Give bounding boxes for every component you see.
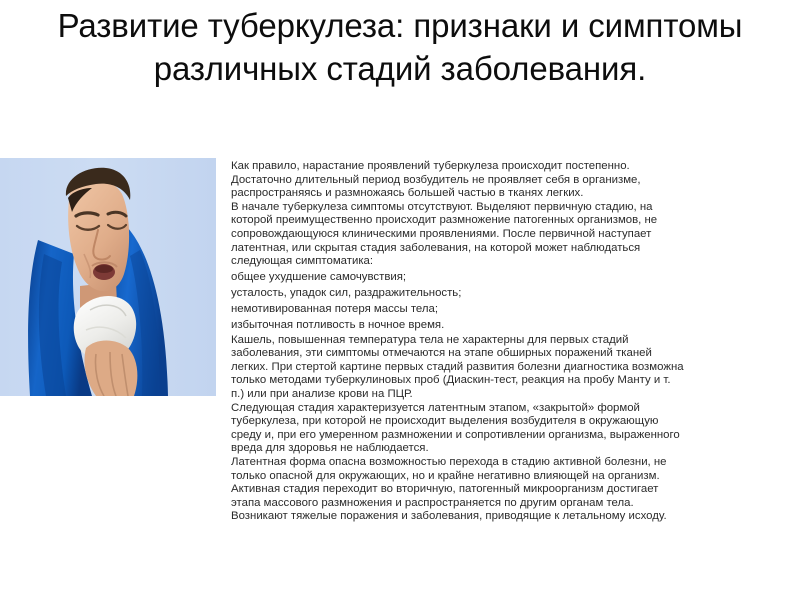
latent-stage-line: среду и, при его умеренном размножении и… <box>231 429 783 443</box>
active-stage-line: только опасной для окружающих, но и край… <box>231 470 783 484</box>
diagnostics-line: легких. При стертой картине первых стади… <box>231 361 783 375</box>
symptom-item: усталость, упадок сил, раздражительность… <box>231 285 783 301</box>
coughing-man-illustration <box>0 158 216 396</box>
latent-stage-line: туберкулеза, при которой не происходит в… <box>231 415 783 429</box>
intro-line: Как правило, нарастание проявлений тубер… <box>231 160 783 174</box>
illustration-photo <box>0 158 216 396</box>
diagnostics-line: п.) или при анализе крови на ПЦР. <box>231 388 783 402</box>
intro-line: распространяясь и размножаясь большей ча… <box>231 187 783 201</box>
diagnostics-line: Кашель, повышенная температура тела не х… <box>231 334 783 348</box>
primary-stage-line: которой преимущественно происходит размн… <box>231 214 783 228</box>
diagnostics-line: заболевания, эти симптомы отмечаются на … <box>231 347 783 361</box>
symptom-item: немотивированная потеря массы тела; <box>231 301 783 317</box>
primary-stage-line: следующая симптоматика: <box>231 255 783 269</box>
primary-stage-line: латентная, или скрытая стадия заболевани… <box>231 242 783 256</box>
latent-stage-line: вреда для здоровья не наблюдается. <box>231 442 783 456</box>
page-title: Развитие туберкулеза: признаки и симптом… <box>34 4 766 90</box>
symptom-item: избыточная потливость в ночное время. <box>231 317 783 333</box>
primary-stage-line: В начале туберкулеза симптомы отсутствую… <box>231 201 783 215</box>
active-stage-line: Активная стадия переходит во вторичную, … <box>231 483 783 497</box>
latent-stage-line: Следующая стадия характеризуется латентн… <box>231 402 783 416</box>
active-stage-line: Латентная форма опасна возможностью пере… <box>231 456 783 470</box>
slide-body-text: Как правило, нарастание проявлений тубер… <box>231 160 783 524</box>
diagnostics-line: только методами туберкулиновых проб (Диа… <box>231 374 783 388</box>
intro-line: Достаточно длительный период возбудитель… <box>231 174 783 188</box>
symptom-item: общее ухудшение самочувствия; <box>231 269 783 285</box>
primary-stage-line: сопровождающуюся клиническими проявления… <box>231 228 783 242</box>
active-stage-line: этапа массового размножения и распростра… <box>231 497 783 511</box>
presentation-slide: Развитие туберкулеза: признаки и симптом… <box>0 0 800 600</box>
active-stage-line: Возникают тяжелые поражения и заболевани… <box>231 510 783 524</box>
